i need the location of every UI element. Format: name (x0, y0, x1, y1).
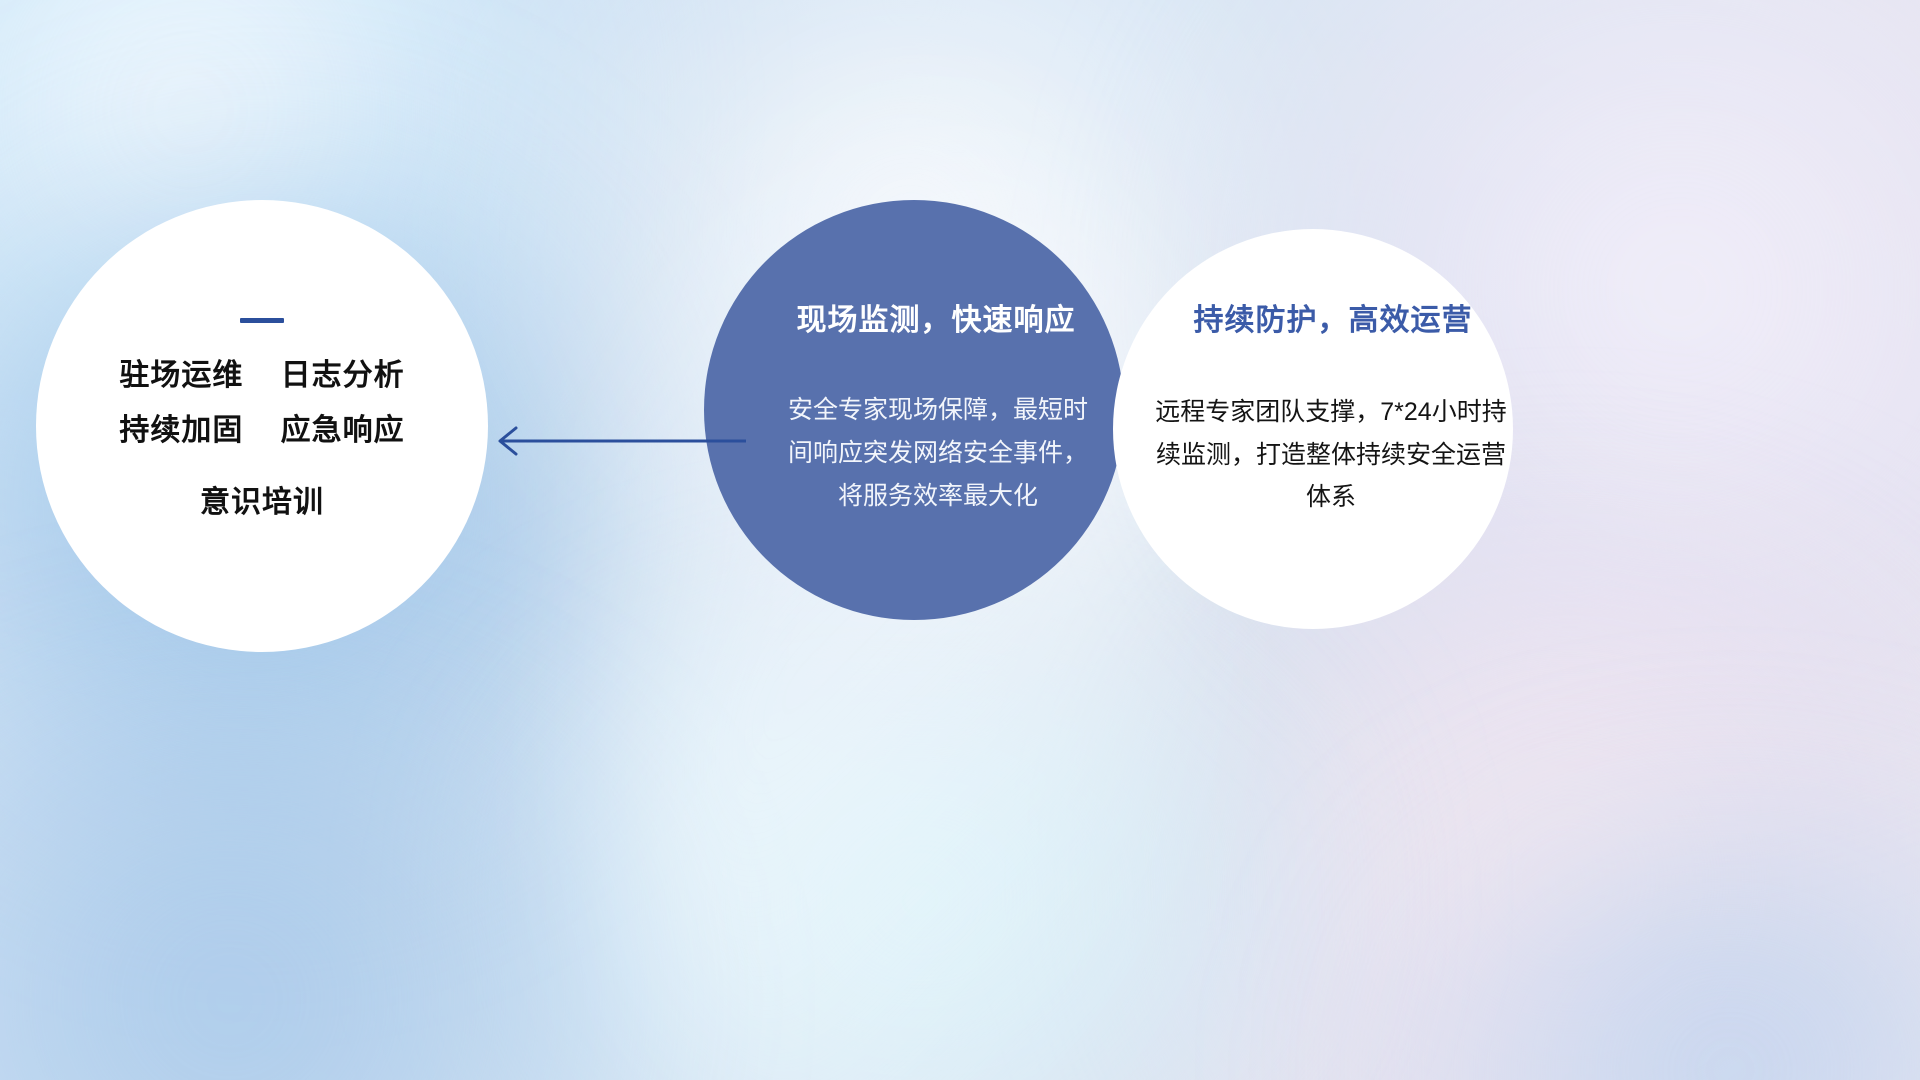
left-circle-row-3: 意识培训 (119, 486, 404, 521)
left-circle-row-1: 驻场运维 日志分析 (119, 359, 404, 394)
right-circle-body: 远程专家团队支撑，7*24小时持续监测，打造整体持续安全运营体系 (1145, 391, 1517, 519)
middle-circle-content: 现场监测，快速响应 安全专家现场保障，最短时间响应突发网络安全事件，将服务效率最… (704, 200, 1124, 620)
slide-canvas: 驻场运维 日志分析 持续加固 应急响应 意识培训 现场监测，快速响应 安全专家现… (0, 0, 1920, 1080)
right-circle-title: 持续防护，高效运营 (1194, 295, 1473, 339)
middle-circle-body: 安全专家现场保障，最短时间响应突发网络安全事件，将服务效率最大化 (788, 389, 1088, 518)
middle-circle-title: 现场监测，快速响应 (797, 295, 1076, 339)
left-circle-divider (240, 318, 284, 323)
left-circle-content: 驻场运维 日志分析 持续加固 应急响应 意识培训 (36, 200, 488, 652)
left-circle-row-2: 持续加固 应急响应 (119, 414, 404, 449)
right-circle-content: 持续防护，高效运营 远程专家团队支撑，7*24小时持续监测，打造整体持续安全运营… (1113, 229, 1513, 629)
left-circle-service-list: 驻场运维 日志分析 持续加固 应急响应 意识培训 (119, 359, 404, 521)
